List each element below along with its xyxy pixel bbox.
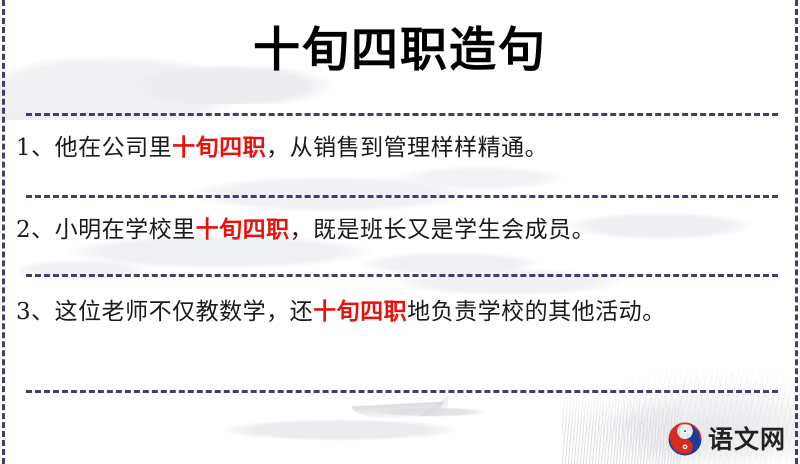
page-title: 十旬四职造句 (0, 22, 800, 81)
sentence-text-after-2: ，既是班长又是学生会成员。 (290, 217, 596, 243)
sentence-index-1: 1、 (16, 135, 55, 161)
page-canvas: 十旬四职造句 1、他在公司里十旬四职，从销售到管理样样精通。 2、小明在学校里十… (0, 0, 800, 464)
sentence-text-before-1: 他在公司里 (55, 135, 173, 161)
keyword-highlight-1: 十旬四职 (172, 134, 266, 161)
sentence-item-3: 3、这位老师不仅教数学，还十旬四职地负责学校的其他活动。 (16, 292, 772, 332)
sentence-item-2: 2、小明在学校里十旬四职，既是班长又是学生会成员。 (16, 210, 772, 250)
keyword-highlight-2: 十旬四职 (196, 216, 290, 243)
yinyang-circle-logo-icon (668, 422, 702, 456)
dashed-rule-1 (26, 113, 778, 116)
watermark-sail-icon (420, 396, 448, 416)
sentence-index-3: 3、 (16, 299, 55, 325)
sentence-item-1: 1、他在公司里十旬四职，从销售到管理样样精通。 (16, 128, 772, 168)
keyword-highlight-3: 十旬四职 (313, 298, 407, 325)
watermark-grass (562, 392, 682, 464)
sentence-text-after-1: ，从销售到管理样样精通。 (266, 135, 548, 161)
watermark-boat-icon (352, 402, 445, 421)
dashed-rule-4 (26, 390, 778, 393)
sentence-text-before-2: 小明在学校里 (55, 217, 196, 243)
watermark-river (180, 396, 520, 454)
sentence-index-2: 2、 (16, 217, 55, 243)
sentence-text-after-3: 地负责学校的其他活动。 (407, 299, 666, 325)
dashed-rule-2 (26, 195, 778, 198)
dashed-rule-3 (26, 274, 778, 277)
site-logo[interactable]: 语文网 (668, 422, 786, 456)
site-logo-text: 语文网 (708, 427, 786, 452)
sentence-text-before-3: 这位老师不仅教数学，还 (55, 299, 314, 325)
